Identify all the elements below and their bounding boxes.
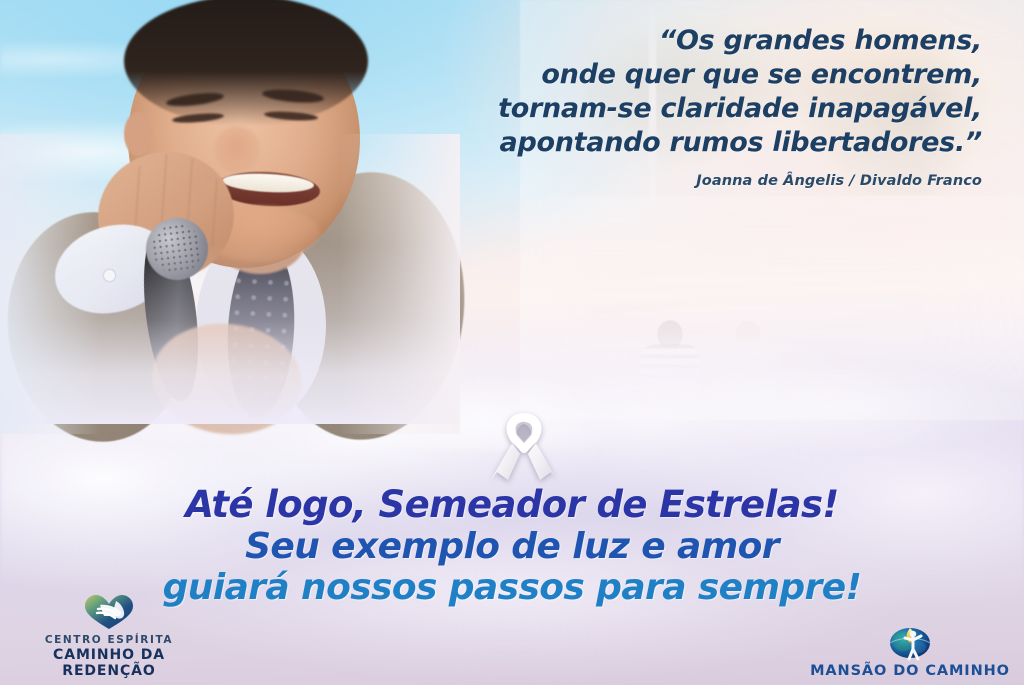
logo-centro-espirita[interactable]: CENTRO ESPÍRITA CAMINHO DA REDENÇÃO [14, 593, 204, 679]
memorial-message: Até logo, Semeador de Estrelas! Seu exem… [0, 484, 1024, 608]
logo-mansao-do-caminho[interactable]: MANSÃO DO CAMINHO [810, 621, 1010, 679]
white-ribbon-icon [487, 408, 561, 486]
quote-line-3: tornam-se claridade inapagável, [362, 92, 982, 126]
quote-line-1: “Os grandes homens, [362, 24, 982, 58]
quote-line-4: apontando rumos libertadores.” [362, 126, 982, 160]
logo-centro-espirita-line1: CENTRO ESPÍRITA [14, 634, 204, 646]
portrait-left-fade [0, 134, 100, 434]
globe-figure-flame-logo-icon [885, 621, 935, 661]
logo-mansao-do-caminho-label: MANSÃO DO CAMINHO [810, 663, 1010, 679]
portrait-hair [124, 0, 368, 126]
quote-line-2: onde quer que se encontrem, [362, 58, 982, 92]
message-line-2: Seu exemplo de luz e amor [0, 526, 1024, 567]
quote-block: “Os grandes homens, onde quer que se enc… [362, 24, 982, 189]
message-line-1: Até logo, Semeador de Estrelas! [0, 484, 1024, 526]
white-ribbon-svg [487, 408, 561, 486]
portrait-nose [214, 126, 260, 172]
logo-centro-espirita-line2: CAMINHO DA REDENÇÃO [14, 647, 204, 679]
memorial-poster: “Os grandes homens, onde quer que se enc… [0, 0, 1024, 685]
portrait-ear [124, 112, 152, 156]
quote-attribution: Joanna de Ângelis / Divaldo Franco [362, 173, 982, 189]
heart-hands-logo-icon [82, 593, 136, 633]
